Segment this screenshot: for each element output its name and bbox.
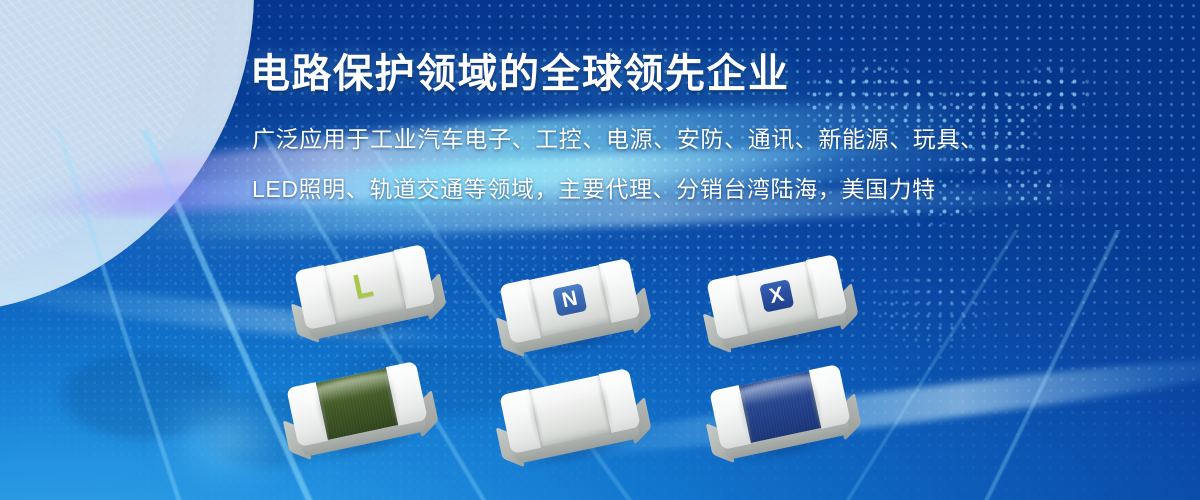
product-chip-fuse-l: L [295, 245, 434, 329]
chip-marking-badge-n: N [552, 283, 587, 317]
chip-marking-l: L [350, 267, 375, 304]
chip-marking-badge-x: X [759, 279, 794, 313]
product-chip-fuse-x: X [707, 255, 846, 339]
chip-marking-x: X [768, 283, 786, 306]
chip-terminal-right [809, 364, 851, 429]
chip-terminal-right [806, 254, 848, 319]
hero-banner: 电路保护领域的全球领先企业 广泛应用于工业汽车电子、工控、电源、安防、通讯、新能… [0, 0, 1200, 500]
product-showcase: L N [0, 0, 1200, 500]
product-chip-fuse-blue [710, 365, 849, 449]
chip-terminal-right [394, 244, 436, 309]
chip-terminal-right [599, 368, 641, 433]
product-chip-fuse-green [287, 362, 426, 446]
product-chip-fuse-plain [500, 369, 639, 453]
chip-terminal-right [599, 258, 641, 323]
chip-terminal-right [386, 361, 428, 426]
chip-marking-n: N [560, 287, 579, 311]
product-chip-fuse-n: N [500, 259, 639, 343]
